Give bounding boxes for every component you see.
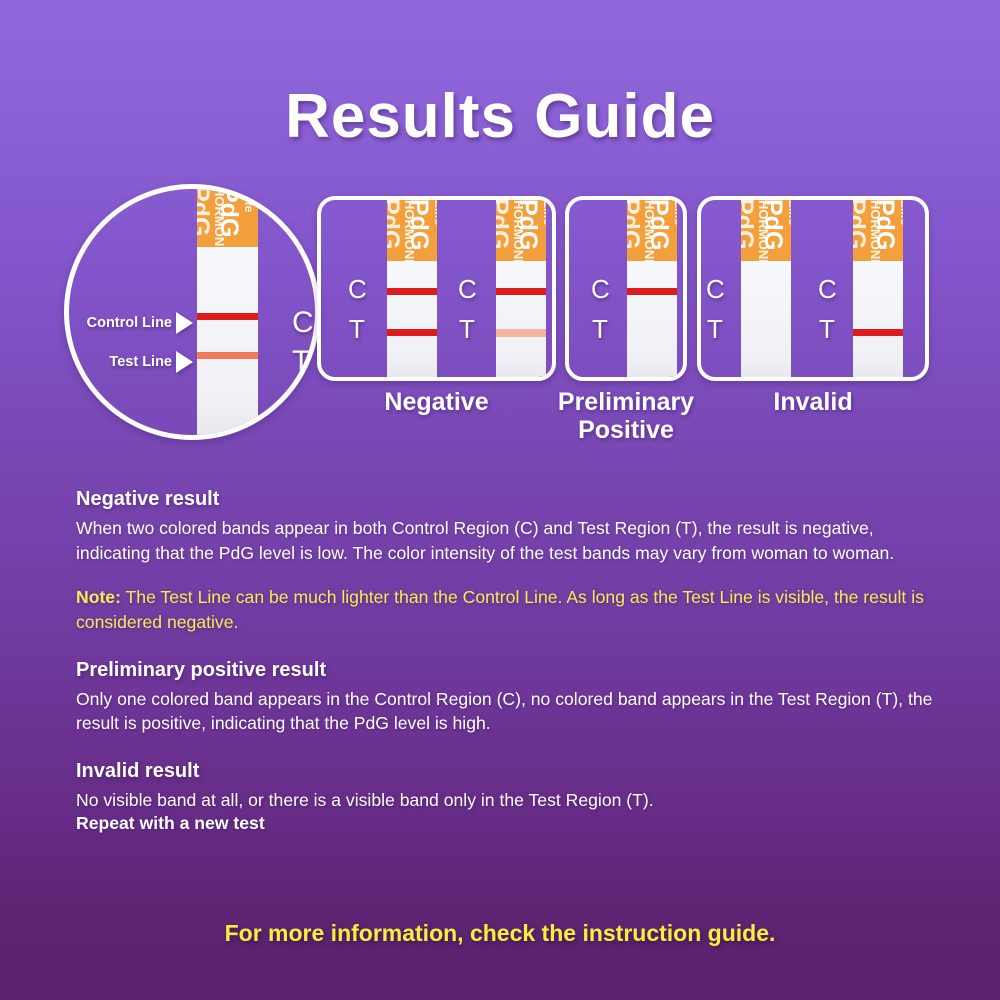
strip-window bbox=[741, 261, 791, 381]
section-invalid: Invalid result No visible band at all, o… bbox=[76, 760, 946, 835]
footer-cta[interactable]: For more information, check the instruct… bbox=[0, 920, 1000, 947]
test-band bbox=[853, 329, 903, 336]
invalid-strip-1: PdG HORMONE Elife PdG bbox=[741, 196, 791, 381]
negative-strip-2: PdG HORMONE Elife PdG bbox=[496, 196, 546, 381]
magnified-strip: PdG HORMONE Elife PdG bbox=[197, 184, 258, 440]
caption-invalid: Invalid bbox=[697, 388, 929, 416]
magnifier-t-letter: T bbox=[292, 345, 310, 379]
strip-window bbox=[496, 261, 546, 381]
control-band bbox=[496, 288, 546, 295]
strip-label-brand: PdG bbox=[870, 199, 899, 250]
strip-orange-label: PdG HORMONE Elife PdG bbox=[627, 196, 677, 261]
strip-window bbox=[197, 247, 258, 440]
section-preliminary: Preliminary positive result Only one col… bbox=[76, 659, 946, 736]
strip-label-brand: PdG bbox=[644, 199, 673, 250]
t-letter: T bbox=[592, 314, 608, 345]
t-letter: T bbox=[349, 314, 365, 345]
test-band bbox=[387, 329, 437, 336]
strip-window bbox=[387, 261, 437, 381]
strip-window bbox=[853, 261, 903, 381]
t-letter: T bbox=[707, 314, 723, 345]
test-line-callout: Test Line bbox=[109, 351, 193, 373]
results-diagram: PdG HORMONE Elife PdG Control Line Test … bbox=[0, 176, 1000, 441]
body-preliminary: Only one colored band appears in the Con… bbox=[76, 687, 946, 736]
caption-line-1: Preliminary bbox=[535, 388, 717, 416]
strip-window bbox=[627, 261, 677, 381]
strip-orange-label: PdG HORMONE Elife PdG bbox=[387, 196, 437, 261]
page-title: Results Guide bbox=[0, 0, 1000, 148]
c-letter: C bbox=[706, 274, 725, 305]
control-band bbox=[627, 288, 677, 295]
caption-negative: Negative bbox=[317, 388, 556, 416]
note-label: Note: bbox=[76, 587, 121, 607]
magnifier-ct-letters: C T bbox=[264, 189, 320, 435]
c-letter: C bbox=[591, 274, 610, 305]
panel-invalid[interactable]: PdG HORMONE Elife PdG C T PdG HORMONE El… bbox=[697, 196, 929, 381]
test-band bbox=[197, 352, 258, 359]
magnifier-c-letter: C bbox=[292, 306, 314, 340]
strip-label-brand: PdG bbox=[513, 199, 542, 250]
section-note: Note: The Test Line can be much lighter … bbox=[76, 585, 946, 634]
prelim-strip-1: PdG HORMONE Elife PdG bbox=[627, 196, 677, 381]
note-text: The Test Line can be much lighter than t… bbox=[76, 587, 924, 632]
strip-label-elife: Elife bbox=[242, 187, 256, 212]
heading-negative: Negative result bbox=[76, 488, 946, 511]
control-line-label: Control Line bbox=[87, 315, 172, 331]
c-letter: C bbox=[458, 274, 477, 305]
t-letter: T bbox=[459, 314, 475, 345]
strip-label-brand: PdG bbox=[404, 199, 433, 250]
strip-label-brand: PdG bbox=[758, 199, 787, 250]
section-negative: Negative result When two colored bands a… bbox=[76, 488, 946, 565]
strip-orange-label: PdG HORMONE Elife PdG bbox=[741, 196, 791, 261]
results-description: Negative result When two colored bands a… bbox=[76, 488, 946, 851]
test-line-label: Test Line bbox=[109, 354, 172, 370]
strip-orange-label: PdG HORMONE Elife PdG bbox=[853, 196, 903, 261]
strip-orange-label: PdG HORMONE Elife PdG bbox=[197, 184, 258, 247]
control-band bbox=[387, 288, 437, 295]
panel-negative[interactable]: PdG HORMONE Elife PdG C T PdG HORMONE El… bbox=[317, 196, 556, 381]
heading-invalid: Invalid result bbox=[76, 760, 946, 783]
panel-preliminary-positive[interactable]: PdG HORMONE Elife PdG C T bbox=[565, 196, 687, 381]
strip-orange-label: PdG HORMONE Elife PdG bbox=[496, 196, 546, 261]
test-band bbox=[496, 329, 546, 337]
arrow-right-icon bbox=[176, 351, 193, 373]
body-note: Note: The Test Line can be much lighter … bbox=[76, 585, 946, 634]
body-negative: When two colored bands appear in both Co… bbox=[76, 516, 946, 565]
t-letter: T bbox=[819, 314, 835, 345]
c-letter: C bbox=[348, 274, 367, 305]
c-letter: C bbox=[818, 274, 837, 305]
negative-strip-1: PdG HORMONE Elife PdG bbox=[387, 196, 437, 381]
magnifier-callouts: Control Line Test Line bbox=[69, 189, 197, 435]
control-band bbox=[197, 313, 258, 320]
body-invalid: No visible band at all, or there is a vi… bbox=[76, 788, 946, 813]
caption-preliminary-positive: Preliminary Positive bbox=[535, 388, 717, 444]
strip-label-brand: PdG bbox=[214, 186, 243, 237]
magnified-strip-detail: PdG HORMONE Elife PdG Control Line Test … bbox=[64, 184, 320, 440]
control-line-callout: Control Line bbox=[87, 312, 193, 334]
heading-preliminary: Preliminary positive result bbox=[76, 659, 946, 682]
repeat-instruction: Repeat with a new test bbox=[76, 813, 946, 834]
invalid-strip-2: PdG HORMONE Elife PdG bbox=[853, 196, 903, 381]
caption-line-2: Positive bbox=[535, 416, 717, 444]
arrow-right-icon bbox=[176, 312, 193, 334]
